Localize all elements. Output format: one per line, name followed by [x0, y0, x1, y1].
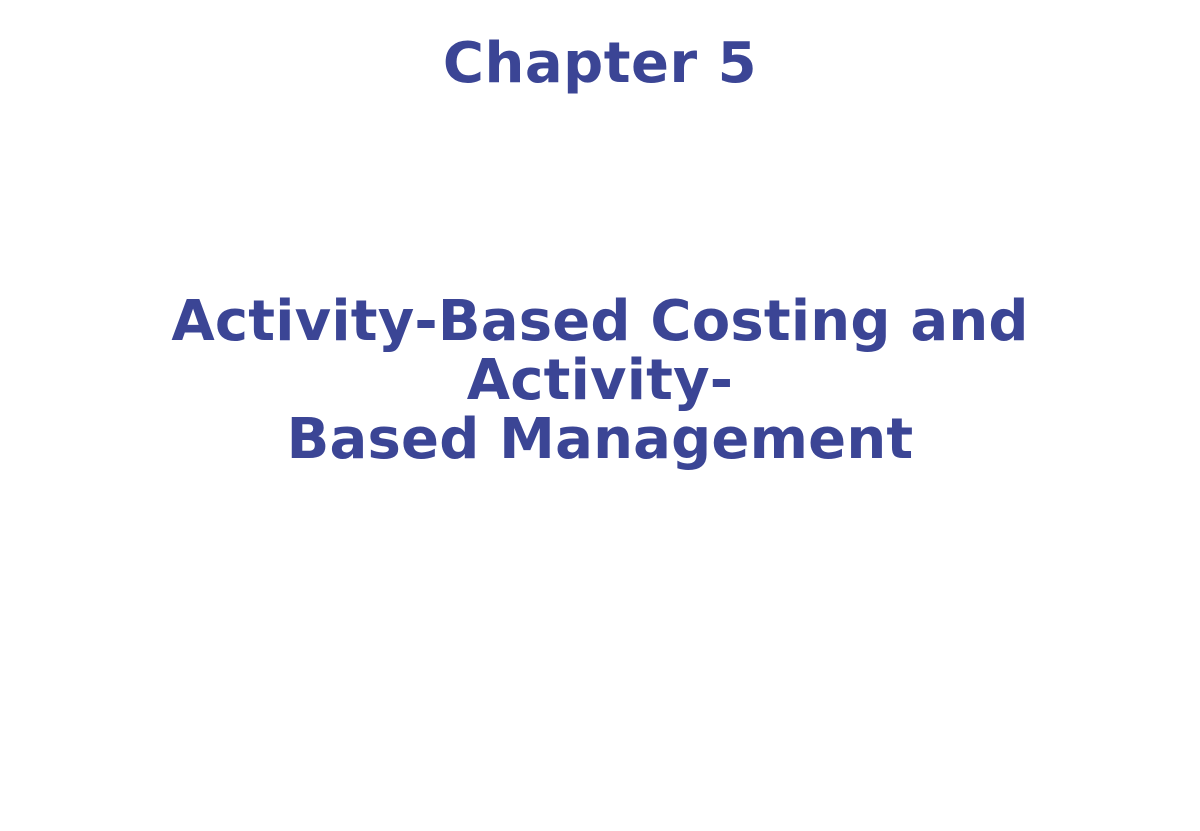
slide-body-placeholder: [60, 430, 1140, 800]
title-slide: Chapter 5 Activity-Based Costing and Act…: [0, 0, 1200, 831]
slide-title-line-1: Activity-Based Costing and Activity-: [60, 292, 1140, 410]
chapter-label: Chapter 5: [0, 34, 1200, 94]
